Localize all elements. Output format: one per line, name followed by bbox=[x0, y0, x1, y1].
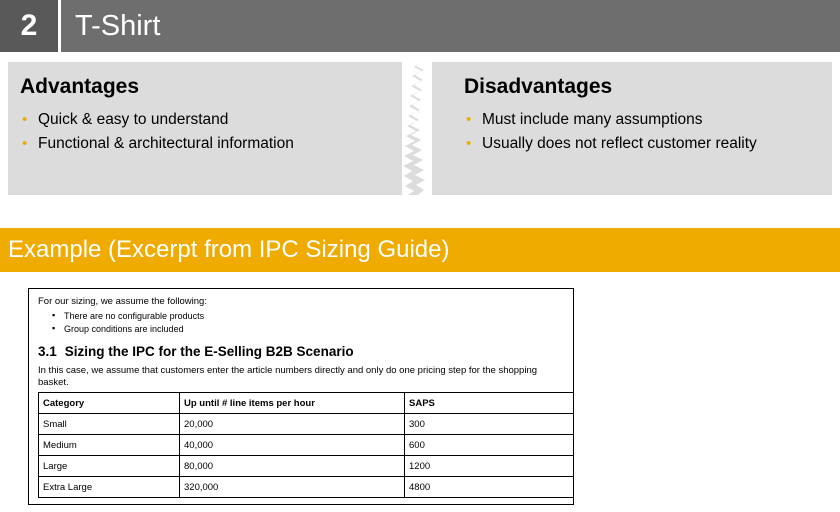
cell-line-items: 80,000 bbox=[180, 456, 405, 477]
example-section-label: Example (Excerpt from IPC Sizing Guide) bbox=[0, 236, 449, 264]
table-row: Large 80,000 1200 bbox=[39, 456, 574, 477]
cell-saps: 1200 bbox=[405, 456, 574, 477]
excerpt-assumption-list: There are no configurable products Group… bbox=[38, 310, 564, 336]
disadvantages-column: Disadvantages Must include many assumpti… bbox=[464, 75, 824, 156]
cell-saps: 300 bbox=[405, 414, 574, 435]
cell-line-items: 320,000 bbox=[180, 477, 405, 498]
advantages-heading: Advantages bbox=[20, 75, 400, 99]
disadvantages-list: Must include many assumptions Usually do… bbox=[464, 108, 824, 156]
list-item: Quick & easy to understand bbox=[20, 108, 400, 132]
advantages-list: Quick & easy to understand Functional & … bbox=[20, 108, 400, 156]
table-row: Extra Large 320,000 4800 bbox=[39, 477, 574, 498]
table-header-row: Category Up until # line items per hour … bbox=[39, 393, 574, 414]
excerpt-document: For our sizing, we assume the following:… bbox=[28, 288, 574, 505]
excerpt-paragraph: In this case, we assume that customers e… bbox=[38, 365, 538, 388]
cell-line-items: 20,000 bbox=[180, 414, 405, 435]
excerpt-intro-text: For our sizing, we assume the following: bbox=[38, 296, 564, 307]
slide-number: 2 bbox=[0, 0, 58, 52]
advantages-column: Advantages Quick & easy to understand Fu… bbox=[20, 75, 400, 156]
sizing-table: Category Up until # line items per hour … bbox=[38, 392, 574, 498]
list-item: Functional & architectural information bbox=[20, 132, 400, 156]
page-title: T-Shirt bbox=[61, 10, 160, 43]
excerpt-section-heading: 3.1Sizing the IPC for the E-Selling B2B … bbox=[38, 344, 564, 359]
cell-category: Small bbox=[39, 414, 180, 435]
torn-paper-divider-icon bbox=[398, 62, 432, 195]
disadvantages-heading: Disadvantages bbox=[464, 75, 824, 99]
list-item: There are no configurable products bbox=[38, 310, 564, 323]
cell-line-items: 40,000 bbox=[180, 435, 405, 456]
slide-title-bar: 2 T-Shirt bbox=[0, 0, 840, 52]
cell-category: Medium bbox=[39, 435, 180, 456]
column-header-saps: SAPS bbox=[405, 393, 574, 414]
cell-saps: 4800 bbox=[405, 477, 574, 498]
cell-category: Large bbox=[39, 456, 180, 477]
column-header-category: Category bbox=[39, 393, 180, 414]
cell-category: Extra Large bbox=[39, 477, 180, 498]
table-row: Medium 40,000 600 bbox=[39, 435, 574, 456]
excerpt-section-number: 3.1 bbox=[38, 344, 57, 359]
list-item: Group conditions are included bbox=[38, 323, 564, 336]
list-item: Usually does not reflect customer realit… bbox=[464, 132, 824, 156]
list-item: Must include many assumptions bbox=[464, 108, 824, 132]
cell-saps: 600 bbox=[405, 435, 574, 456]
excerpt-section-title: Sizing the IPC for the E-Selling B2B Sce… bbox=[65, 344, 354, 359]
table-row: Small 20,000 300 bbox=[39, 414, 574, 435]
example-section-band: Example (Excerpt from IPC Sizing Guide) bbox=[0, 228, 840, 272]
column-header-line-items: Up until # line items per hour bbox=[180, 393, 405, 414]
